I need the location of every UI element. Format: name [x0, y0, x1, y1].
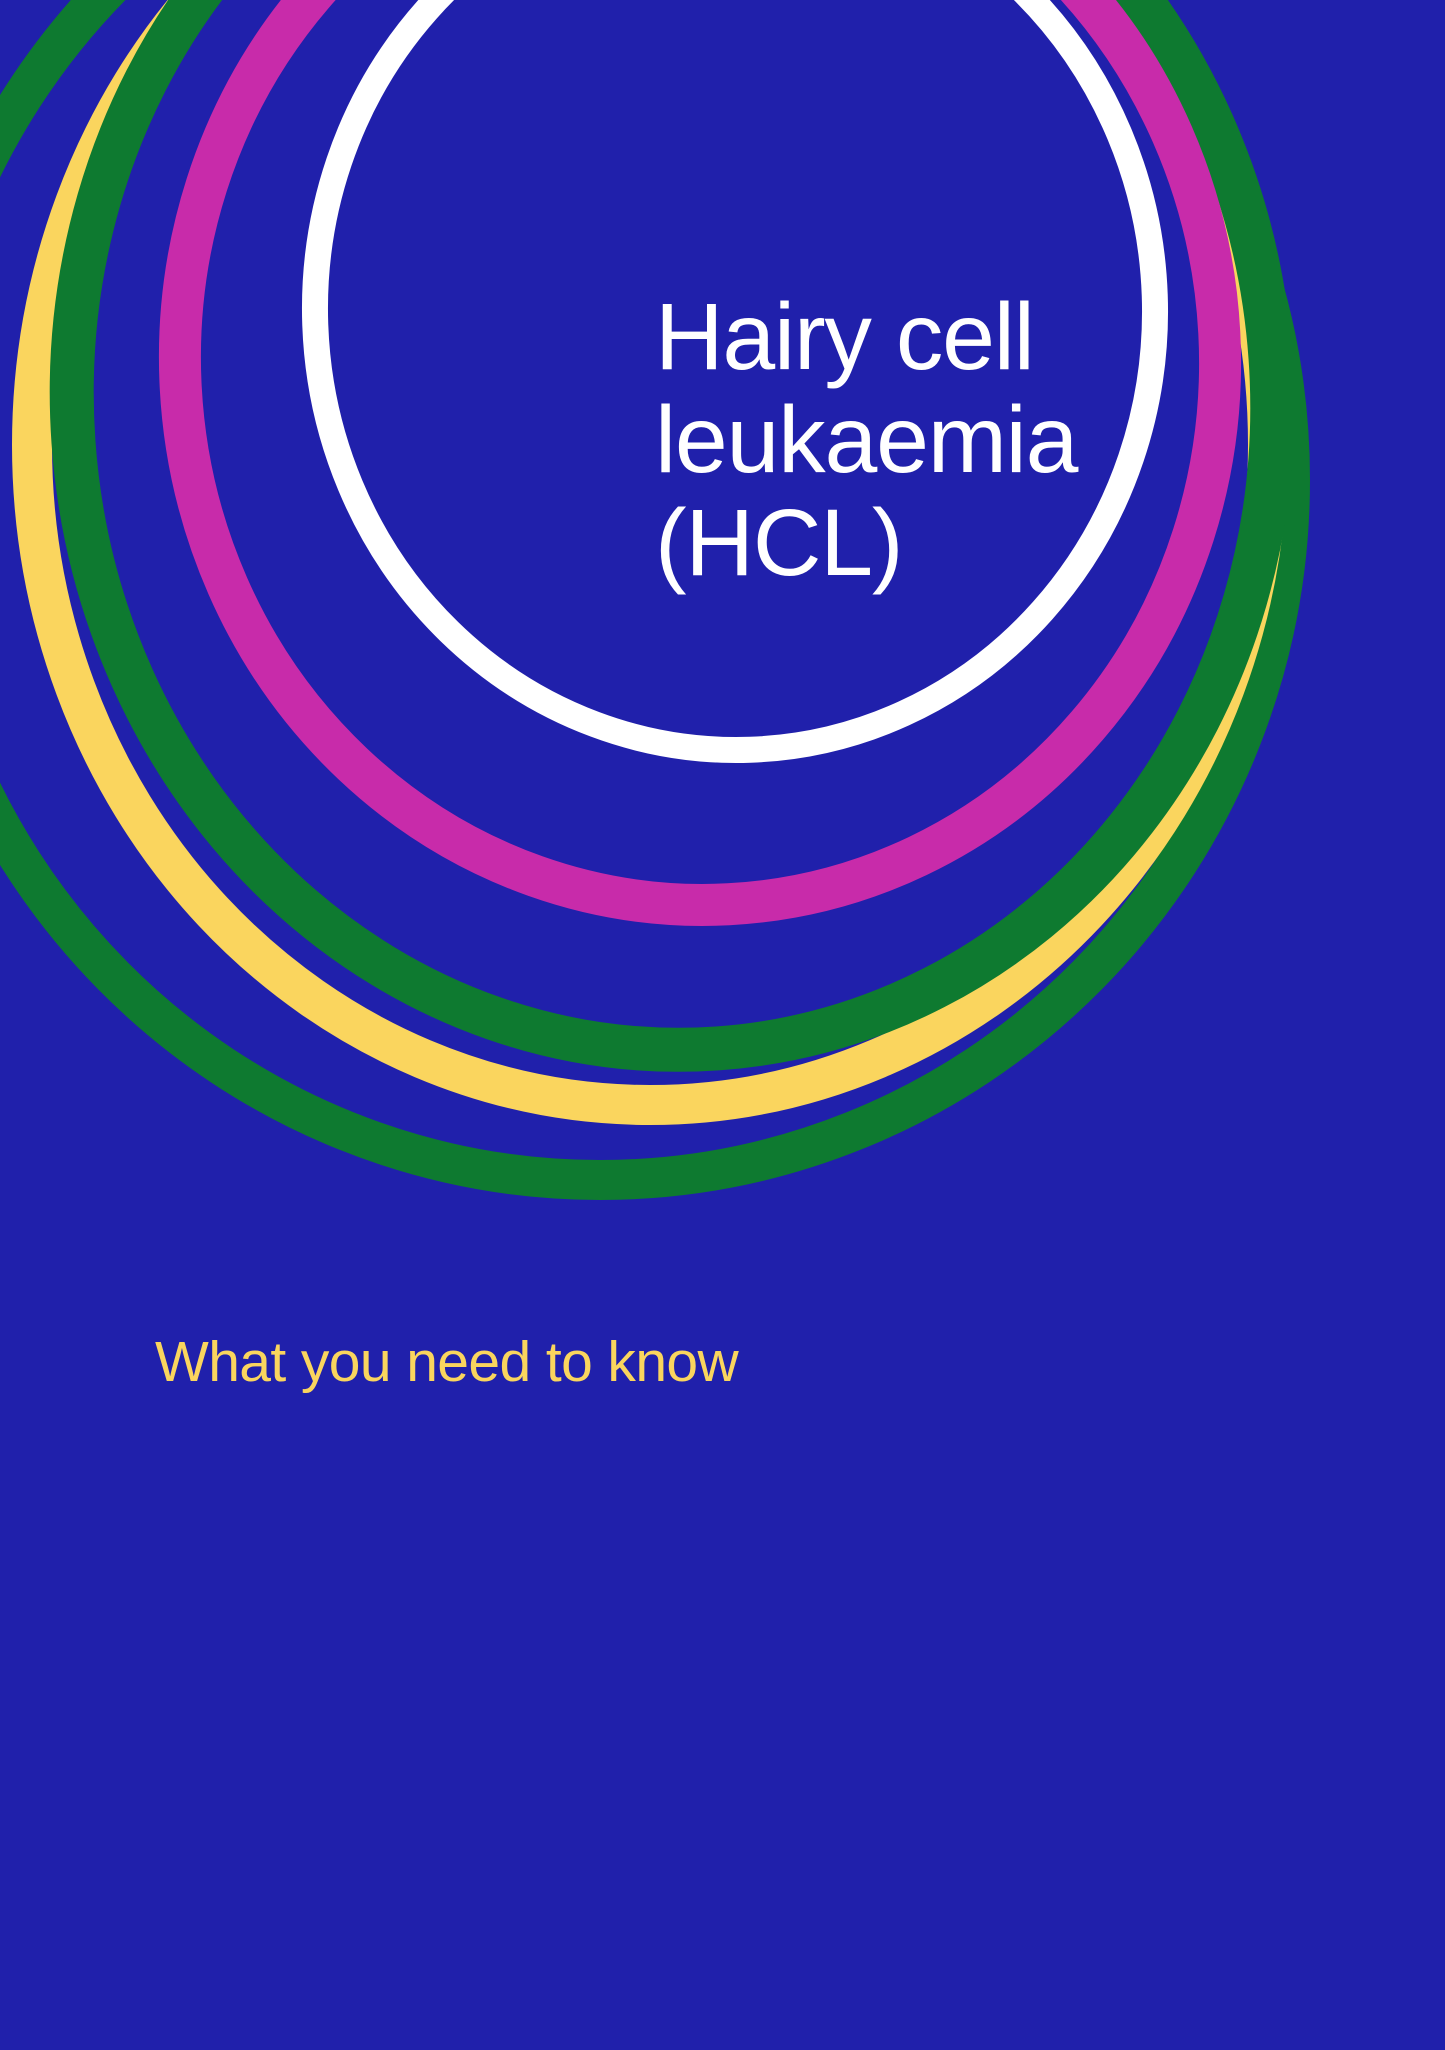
subtitle: What you need to know	[155, 1331, 738, 1393]
page-title: Hairy cell leukaemia (HCL)	[655, 286, 1215, 595]
title-line-2: leukaemia	[655, 389, 1215, 492]
cover-footer: leukaemiacare.org.uk Leukaemia Care	[0, 1780, 1445, 1940]
booklet-cover: Hairy cell leukaemia (HCL) What you need…	[0, 0, 1445, 2050]
title-line-3: (HCL)	[655, 492, 1215, 595]
title-line-1: Hairy cell	[655, 286, 1215, 389]
